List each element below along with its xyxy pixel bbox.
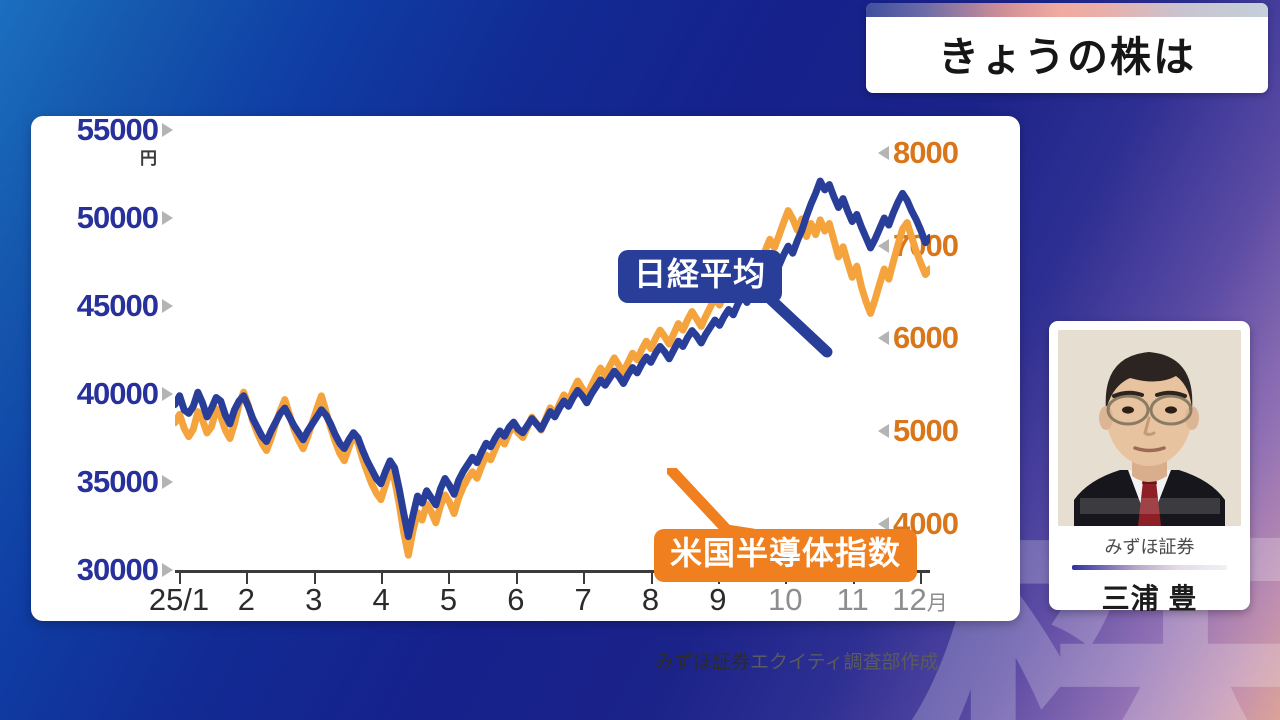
- x-axis-tick-label: 7: [575, 582, 592, 618]
- x-axis-tick-label: 8: [642, 582, 659, 618]
- left-axis-tick-label: 40000: [77, 376, 158, 412]
- commentator-card: みずほ証券 三浦 豊: [1049, 321, 1250, 610]
- left-axis-tick: 35000: [77, 464, 173, 500]
- x-axis-tick-label: 12月: [892, 582, 947, 618]
- x-axis-tick-label: 3: [305, 582, 322, 618]
- chart-panel: 55000円5000045000400003500030000 80007000…: [31, 116, 1020, 621]
- left-axis-tick-label: 35000: [77, 464, 158, 500]
- x-axis-tick-label: 25/1: [149, 582, 209, 618]
- left-axis-unit: 円: [140, 144, 157, 169]
- callout-nikkei: 日経平均: [618, 250, 782, 303]
- left-axis-tick-label: 45000: [77, 288, 158, 324]
- commentator-name: 三浦 豊: [1058, 577, 1241, 617]
- x-axis-tick-label: 9: [709, 582, 726, 618]
- chart-credit: みずほ証券エクイティ調査部作成: [655, 647, 939, 674]
- x-axis-unit-suffix: 月: [927, 592, 948, 615]
- commentator-affiliation: みずほ証券: [1058, 533, 1241, 559]
- left-axis: 55000円5000045000400003500030000: [43, 124, 173, 569]
- left-axis-tick-label: 30000: [77, 552, 158, 588]
- left-axis-tick-label: 55000: [77, 112, 158, 148]
- left-axis-tick-marker: [162, 387, 173, 401]
- program-title-banner: きょうの株は: [866, 3, 1268, 93]
- banner-title: きょうの株は: [866, 17, 1268, 93]
- left-axis-tick-marker: [162, 211, 173, 225]
- left-axis-tick: 45000: [77, 288, 173, 324]
- banner-gradient-strip: [866, 3, 1268, 17]
- left-axis-tick: 50000: [77, 200, 173, 236]
- credit-suffix: エクイティ調査部作成: [750, 652, 938, 673]
- x-axis-tick-label: 11: [837, 582, 869, 618]
- commentator-photo: [1058, 330, 1241, 526]
- left-axis-tick: 40000: [77, 376, 173, 412]
- x-axis-tick-label: 6: [507, 582, 524, 618]
- left-axis-tick-marker: [162, 563, 173, 577]
- broadcast-screen: 株 きょうの株は 55000円5000045000400003500030000…: [0, 0, 1280, 720]
- credit-prefix: みずほ証券: [655, 652, 750, 673]
- series-line-sox: [175, 211, 930, 556]
- left-axis-tick-label: 50000: [77, 200, 158, 236]
- x-axis-tick-label: 4: [372, 582, 389, 618]
- x-axis-labels: 25/123456789101112月: [175, 582, 930, 622]
- card-divider: [1072, 565, 1227, 570]
- x-axis-tick-label: 2: [238, 582, 255, 618]
- plot-area: [175, 130, 930, 570]
- left-axis-tick-marker: [162, 123, 173, 137]
- left-axis-tick: 55000: [77, 112, 173, 148]
- left-axis-tick-marker: [162, 475, 173, 489]
- x-axis-tick-label: 10: [768, 582, 802, 618]
- callout-sox: 米国半導体指数: [654, 529, 917, 582]
- left-axis-tick-marker: [162, 299, 173, 313]
- x-axis-tick-label: 5: [440, 582, 457, 618]
